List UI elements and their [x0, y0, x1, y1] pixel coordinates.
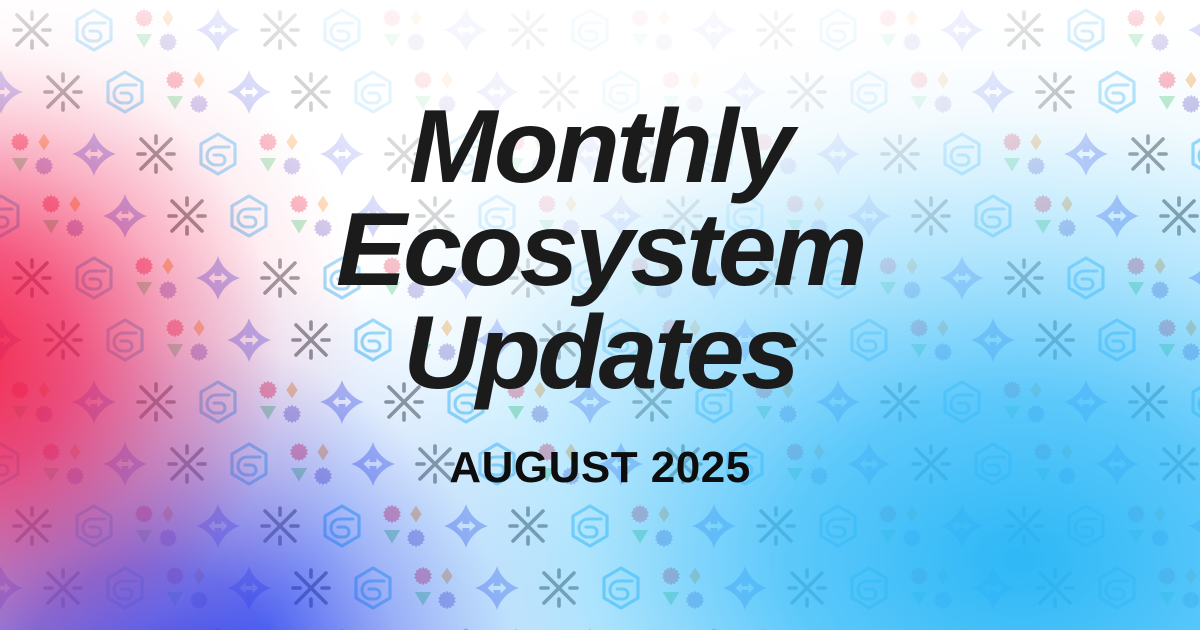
page-title: Monthly Ecosystem Updates: [341, 96, 859, 405]
title-line-3: Updates: [336, 302, 864, 405]
title-line-2: Ecosystem: [336, 199, 864, 302]
banner: Monthly Ecosystem Updates AUGUST 2025: [0, 0, 1200, 630]
subtitle-date: AUGUST 2025: [449, 443, 750, 493]
banner-content: Monthly Ecosystem Updates AUGUST 2025: [0, 0, 1200, 630]
title-line-1: Monthly: [336, 96, 864, 199]
